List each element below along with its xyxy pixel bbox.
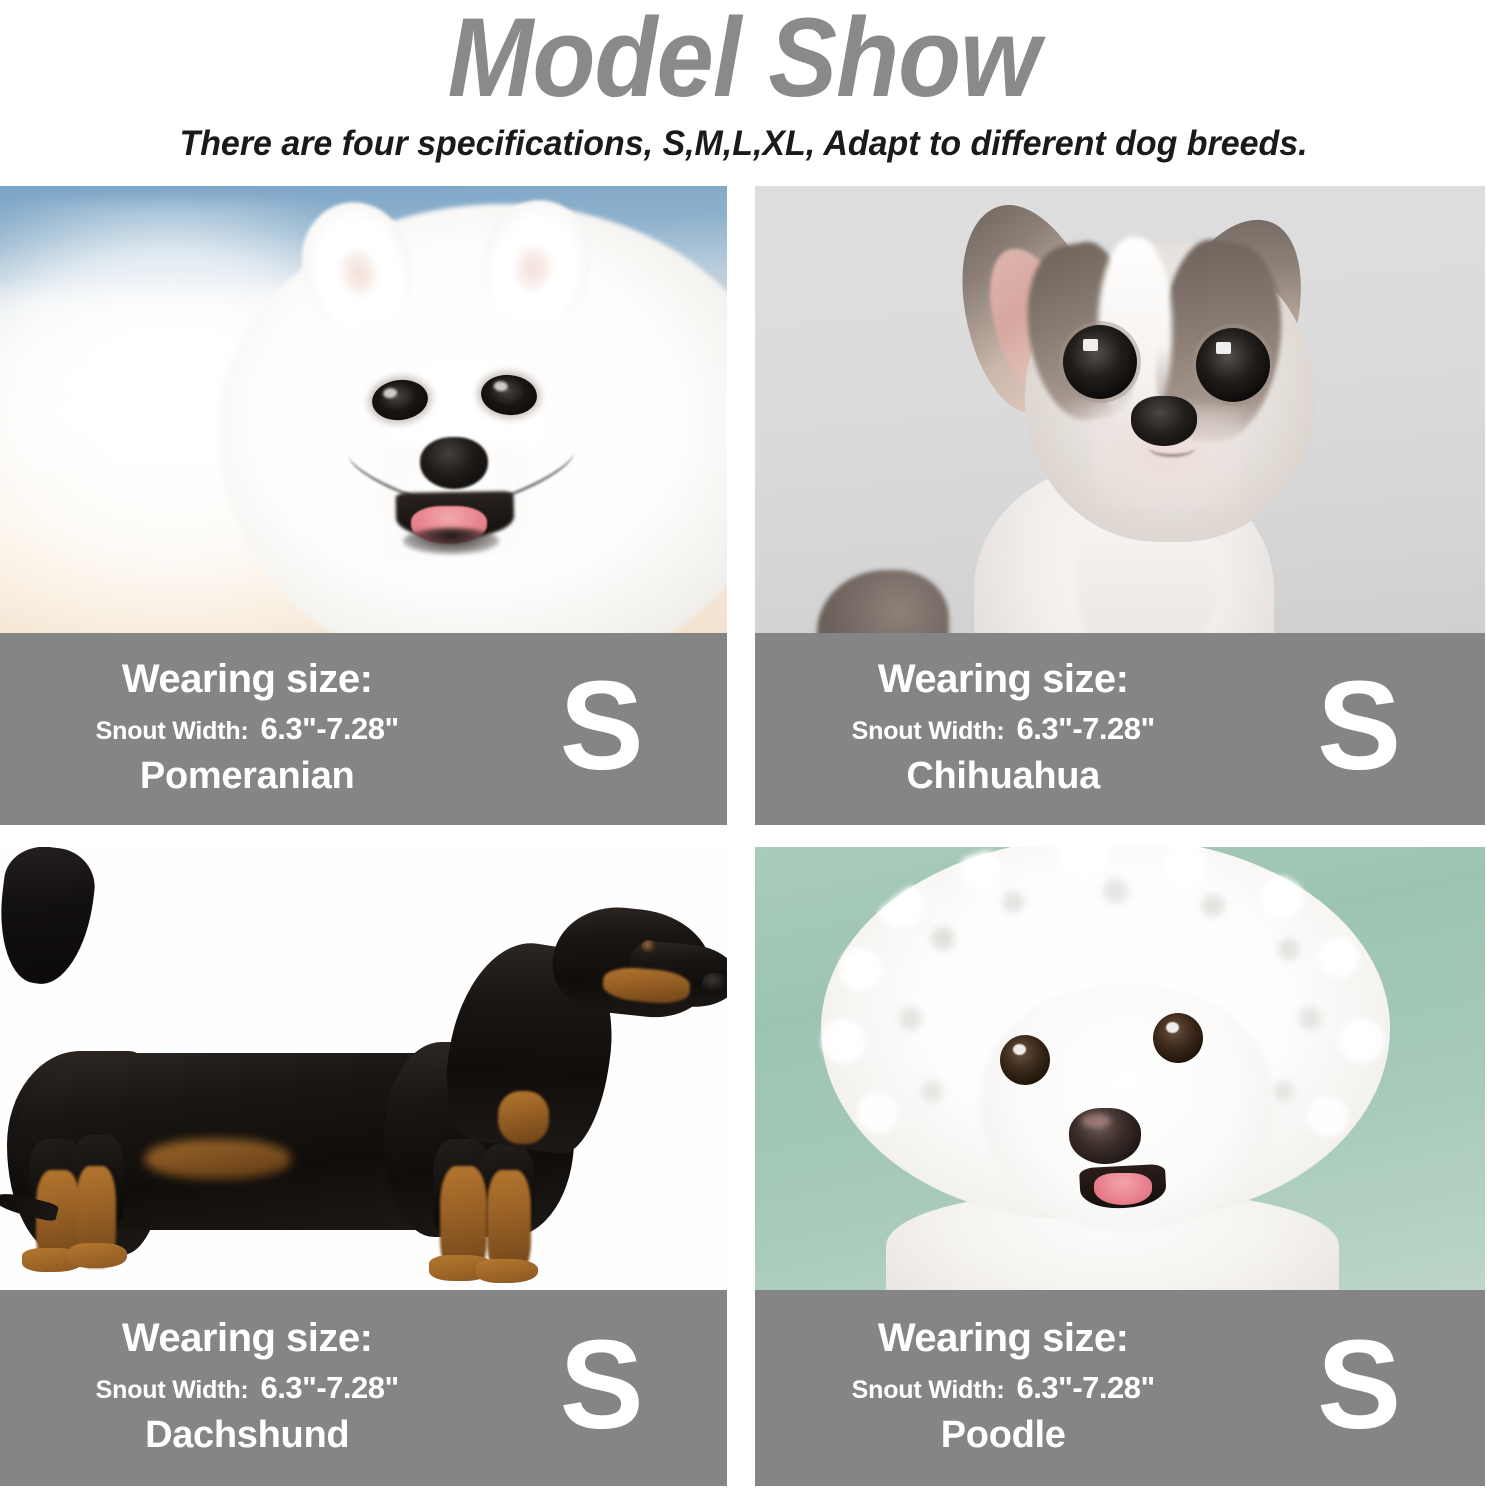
breed-name: Poodle xyxy=(941,1414,1066,1457)
dog-eye-right xyxy=(1196,328,1270,402)
eye-glint-left xyxy=(383,388,398,400)
caption-text-block: Wearing size: Snout Width: 6.3"-7.28" Da… xyxy=(0,1290,494,1486)
dog-photo-dachshund xyxy=(0,847,727,1290)
snout-width-label: Snout Width: xyxy=(852,717,1005,746)
caption-bar-dachshund: Wearing size: Snout Width: 6.3"-7.28" Da… xyxy=(0,1290,727,1486)
wearing-size-label: Wearing size: xyxy=(878,1315,1129,1361)
wearing-size-label: Wearing size: xyxy=(878,656,1129,702)
wearing-size-label: Wearing size: xyxy=(122,1315,373,1361)
caption-bar-pomeranian: Wearing size: Snout Width: 6.3"-7.28" Po… xyxy=(0,633,727,825)
dog-photo-chihuahua xyxy=(755,186,1485,633)
breed-card-chihuahua: Wearing size: Snout Width: 6.3"-7.28" Ch… xyxy=(755,186,1485,825)
snout-width-row: Snout Width: 6.3"-7.28" xyxy=(852,711,1155,747)
model-show-infographic: Model Show There are four specifications… xyxy=(0,0,1487,1500)
eye-glint-left xyxy=(1083,339,1098,351)
page-subtitle: There are four specifications, S,M,L,XL,… xyxy=(22,124,1464,164)
eye-glint-right xyxy=(1166,1022,1179,1033)
breed-card-dachshund: Wearing size: Snout Width: 6.3"-7.28" Da… xyxy=(0,847,727,1486)
page-title: Model Show xyxy=(59,2,1427,114)
eye-glint-right xyxy=(1216,342,1231,354)
dog-chin xyxy=(403,528,499,554)
breed-card-pomeranian: Wearing size: Snout Width: 6.3"-7.28" Po… xyxy=(0,186,727,825)
dog-photo-pomeranian xyxy=(0,186,727,633)
size-letter-badge: S xyxy=(494,633,727,825)
breed-name: Pomeranian xyxy=(140,755,355,798)
breed-name: Dachshund xyxy=(145,1414,349,1457)
snout-width-row: Snout Width: 6.3"-7.28" xyxy=(852,1370,1155,1406)
dog-nose xyxy=(420,437,488,489)
dog-nose xyxy=(1069,1108,1141,1164)
breed-name: Chihuahua xyxy=(906,755,1100,798)
header: Model Show There are four specifications… xyxy=(0,0,1487,164)
dog-photo-poodle xyxy=(755,847,1485,1290)
size-letter-badge: S xyxy=(1251,1290,1485,1486)
snout-width-value: 6.3"-7.28" xyxy=(1017,1370,1155,1406)
dog-mouth xyxy=(1149,439,1195,457)
nose-highlight xyxy=(1081,1114,1111,1128)
dog-eye-left xyxy=(1063,325,1137,399)
breed-card-grid: Wearing size: Snout Width: 6.3"-7.28" Po… xyxy=(0,186,1487,1486)
dog-nose xyxy=(702,973,727,993)
snout-width-label: Snout Width: xyxy=(96,1376,249,1405)
ear-inner-right xyxy=(511,242,556,294)
snout-width-value: 6.3"-7.28" xyxy=(261,711,399,747)
caption-text-block: Wearing size: Snout Width: 6.3"-7.28" Po… xyxy=(0,633,494,825)
eye-glint-right xyxy=(494,381,509,392)
snout-width-row: Snout Width: 6.3"-7.28" xyxy=(96,711,399,747)
dog-eye-left xyxy=(1000,1035,1050,1085)
snout-width-label: Snout Width: xyxy=(96,717,249,746)
tan-marking-belly xyxy=(145,1139,290,1179)
snout-width-value: 6.3"-7.28" xyxy=(1017,711,1155,747)
eye-glint-left xyxy=(1013,1044,1026,1055)
caption-text-block: Wearing size: Snout Width: 6.3"-7.28" Ch… xyxy=(755,633,1251,825)
wearing-size-label: Wearing size: xyxy=(122,656,373,702)
ear-inner-left xyxy=(335,246,380,299)
dog-eye-right xyxy=(1153,1013,1203,1063)
caption-bar-poodle: Wearing size: Snout Width: 6.3"-7.28" Po… xyxy=(755,1290,1485,1486)
dog-paw-front-right xyxy=(476,1259,538,1283)
breed-card-poodle: Wearing size: Snout Width: 6.3"-7.28" Po… xyxy=(755,847,1485,1486)
size-letter-badge: S xyxy=(1251,633,1485,825)
dog-paw-rear-right xyxy=(69,1243,127,1267)
dog-tongue xyxy=(1094,1173,1152,1205)
tan-marking-chest xyxy=(498,1091,549,1144)
snout-width-label: Snout Width: xyxy=(852,1376,1005,1405)
caption-text-block: Wearing size: Snout Width: 6.3"-7.28" Po… xyxy=(755,1290,1251,1486)
size-letter-badge: S xyxy=(494,1290,727,1486)
snout-width-row: Snout Width: 6.3"-7.28" xyxy=(96,1370,399,1406)
caption-bar-chihuahua: Wearing size: Snout Width: 6.3"-7.28" Ch… xyxy=(755,633,1485,825)
snout-width-value: 6.3"-7.28" xyxy=(261,1370,399,1406)
